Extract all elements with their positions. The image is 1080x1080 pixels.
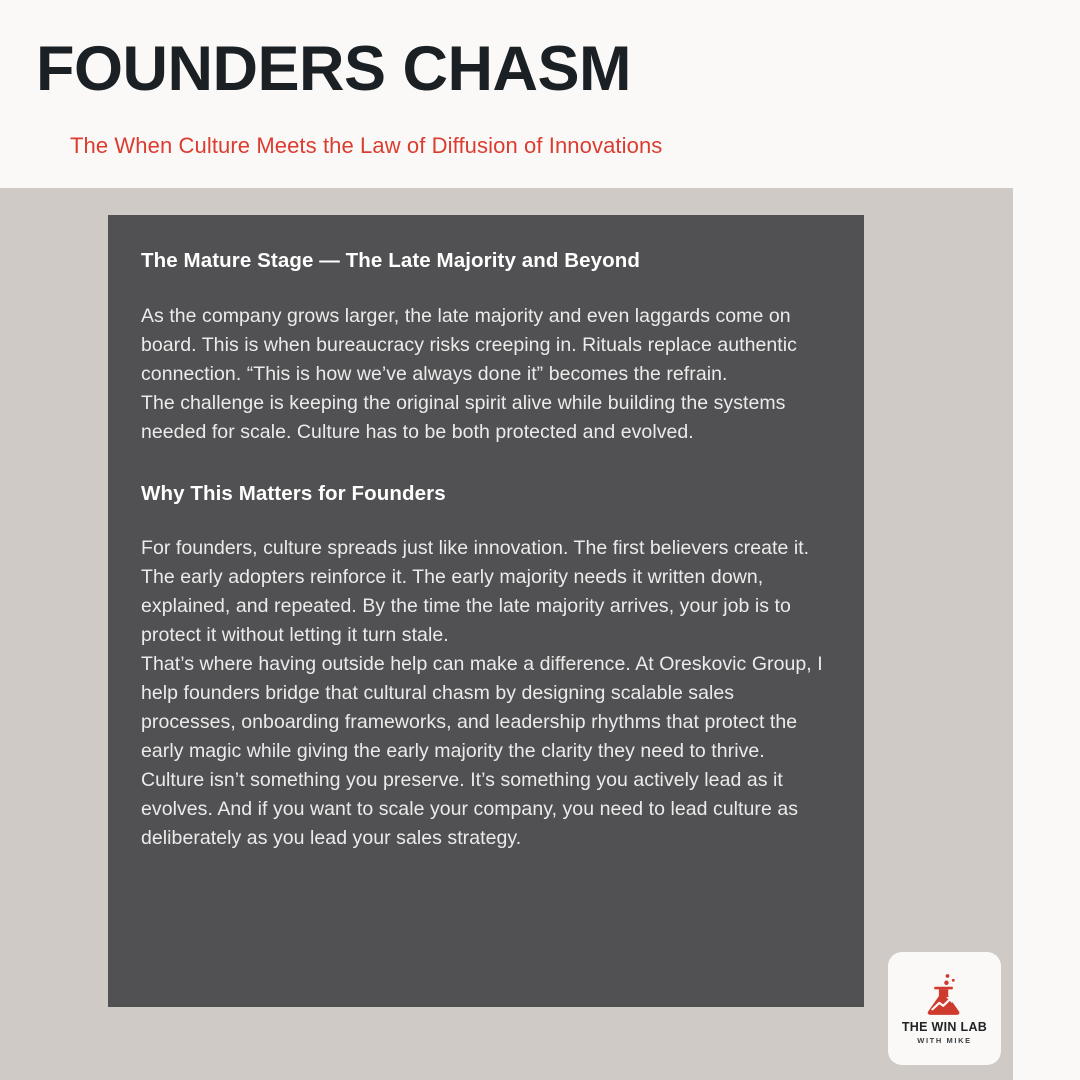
page-subtitle: The When Culture Meets the Law of Diffus… (70, 133, 662, 159)
spacer (141, 447, 830, 480)
section-paragraph: The challenge is keeping the original sp… (141, 389, 830, 447)
header-band: FOUNDERS CHASM The When Culture Meets th… (0, 0, 1080, 188)
section-paragraph: That’s where having outside help can mak… (141, 650, 830, 766)
section-paragraph: For founders, culture spreads just like … (141, 534, 830, 650)
spacer (141, 507, 830, 534)
spacer (141, 275, 830, 302)
card-section-mature-stage: The Mature Stage — The Late Majority and… (141, 247, 830, 447)
section-paragraph: As the company grows larger, the late ma… (141, 302, 830, 389)
section-heading: The Mature Stage — The Late Majority and… (141, 247, 830, 275)
card-section-why-this-matters: Why This Matters for Founders For founde… (141, 480, 830, 854)
logo-tagline: WITH MIKE (917, 1037, 971, 1045)
section-paragraph: Culture isn’t something you preserve. It… (141, 766, 830, 853)
section-heading: Why This Matters for Founders (141, 480, 830, 508)
poster-canvas: FOUNDERS CHASM The When Culture Meets th… (0, 0, 1080, 1080)
content-card: The Mature Stage — The Late Majority and… (108, 215, 864, 1007)
erlenmeyer-flask-icon (922, 972, 968, 1018)
logo-badge: THE WIN LAB WITH MIKE (888, 952, 1001, 1065)
logo-name: THE WIN LAB (902, 1021, 987, 1035)
page-title: FOUNDERS CHASM (36, 36, 631, 102)
